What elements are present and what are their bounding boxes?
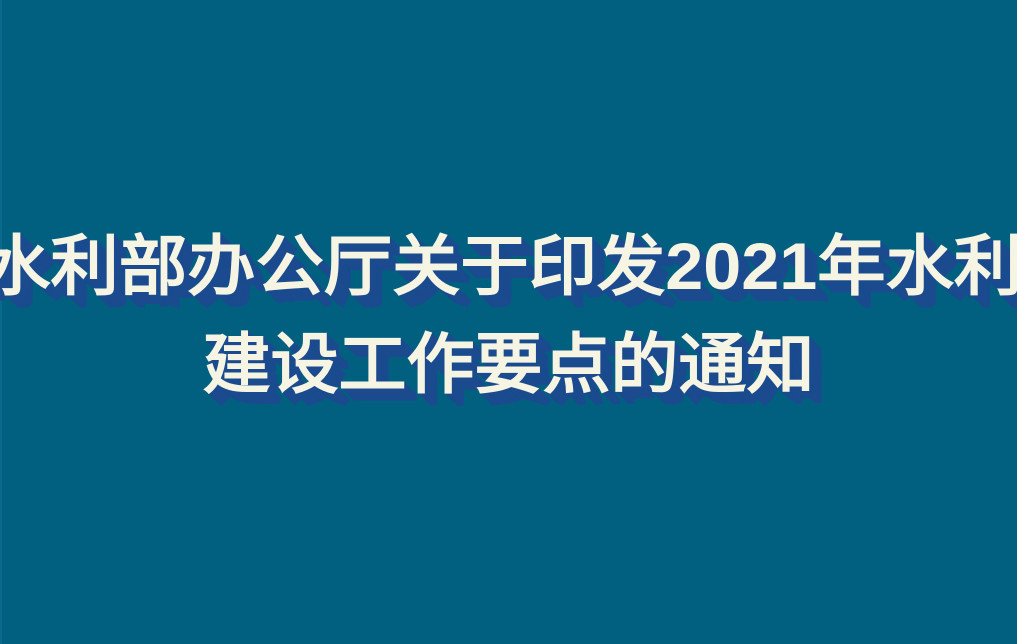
title-banner: 水利部办公厅关于印发2021年水利工程 建设工作要点的通知 (0, 0, 1017, 644)
page-title: 水利部办公厅关于印发2021年水利工程 建设工作要点的通知 (0, 223, 1017, 407)
title-line-1: 水利部办公厅关于印发2021年水利工程 (0, 223, 1017, 309)
title-line-2: 建设工作要点的通知 (0, 321, 1017, 407)
